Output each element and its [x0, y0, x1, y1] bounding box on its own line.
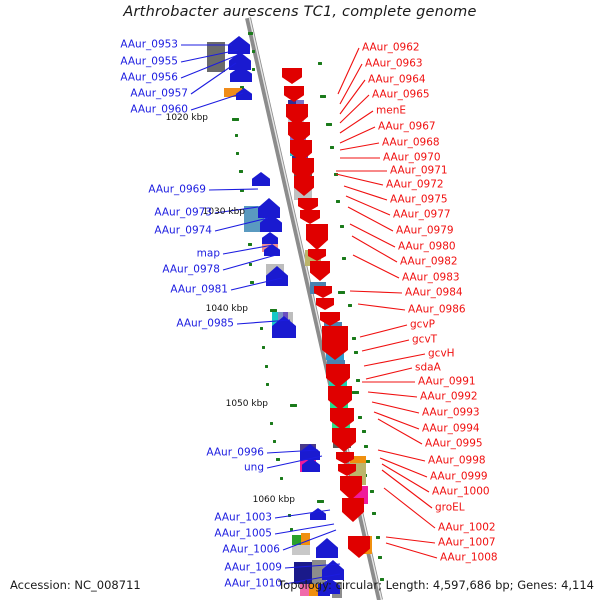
gene-label[interactable]: AAur_0993: [422, 408, 480, 419]
tick-mark: [372, 512, 376, 515]
tick-mark: [376, 536, 380, 539]
leader-line: [338, 48, 359, 94]
gene-label[interactable]: AAur_0982: [400, 257, 458, 268]
reverse-gene-arrow[interactable]: [310, 508, 326, 520]
gene-label[interactable]: AAur_1006: [222, 545, 280, 556]
reverse-gene-arrow[interactable]: [262, 232, 278, 244]
tick-mark: [239, 170, 243, 173]
tick-mark: [252, 68, 255, 71]
leader-line: [372, 402, 419, 413]
gene-label[interactable]: groEL: [435, 503, 465, 514]
forward-gene-arrow[interactable]: [310, 261, 330, 281]
gene-label[interactable]: AAur_0998: [428, 456, 486, 467]
gene-label[interactable]: AAur_0953: [120, 40, 178, 51]
gene-label[interactable]: AAur_1007: [438, 538, 496, 549]
leader-line: [348, 207, 393, 231]
forward-gene-arrow[interactable]: [314, 286, 332, 298]
tick-mark: [260, 327, 263, 330]
tick-mark: [236, 152, 239, 155]
forward-gene-arrows-group: [282, 68, 370, 558]
gene-label[interactable]: AAur_0995: [425, 439, 483, 450]
forward-gene-arrow[interactable]: [298, 198, 318, 212]
gene-label[interactable]: gcvP: [410, 320, 435, 331]
gene-label[interactable]: AAur_0980: [398, 242, 456, 253]
gene-label[interactable]: AAur_1003: [214, 513, 272, 524]
scale-tick-label: 1040 kbp: [206, 304, 248, 314]
gene-label[interactable]: AAur_0979: [396, 226, 454, 237]
tick-mark: [320, 95, 326, 98]
gene-label[interactable]: AAur_0955: [120, 57, 178, 68]
forward-gene-arrow[interactable]: [300, 210, 320, 224]
gene-label[interactable]: AAur_1008: [440, 553, 498, 564]
leader-line: [362, 340, 409, 351]
reverse-gene-arrow[interactable]: [258, 198, 280, 218]
tick-mark: [248, 243, 252, 246]
tick-mark: [378, 556, 382, 559]
gene-box[interactable]: [292, 545, 310, 555]
gene-label[interactable]: AAur_1002: [438, 523, 496, 534]
tick-mark: [352, 391, 359, 394]
leader-line: [350, 291, 402, 293]
forward-gene-arrow[interactable]: [284, 86, 304, 102]
leader-line: [350, 224, 395, 247]
gene-label[interactable]: AAur_0973: [154, 208, 212, 219]
genome-summary-text: Topology: circular; Length: 4,597,686 bp…: [278, 578, 594, 592]
tick-mark: [326, 123, 332, 126]
gene-label[interactable]: AAur_0965: [372, 90, 430, 101]
forward-gene-arrow[interactable]: [332, 428, 356, 452]
gene-label[interactable]: AAur_0956: [120, 73, 178, 84]
gene-label[interactable]: AAur_0962: [362, 43, 420, 54]
gene-label[interactable]: AAur_0969: [148, 185, 206, 196]
tick-mark: [290, 404, 297, 407]
tick-mark: [358, 416, 362, 419]
tick-mark: [366, 460, 370, 463]
leader-line: [336, 174, 383, 185]
scale-tick-label: 1050 kbp: [226, 399, 268, 409]
gene-label[interactable]: AAur_0964: [368, 75, 426, 86]
tick-mark: [270, 309, 277, 312]
tick-mark: [273, 440, 276, 443]
tick-mark: [370, 490, 374, 493]
gene-label[interactable]: AAur_0960: [130, 105, 188, 116]
gene-label[interactable]: AAur_0977: [393, 210, 451, 221]
gene-label[interactable]: AAur_0970: [383, 153, 441, 164]
gene-label[interactable]: AAur_1005: [214, 529, 272, 540]
gene-label[interactable]: AAur_0992: [420, 392, 478, 403]
gene-label[interactable]: AAur_1009: [224, 563, 282, 574]
scale-tick-label: 1060 kbp: [253, 495, 295, 505]
gene-label[interactable]: AAur_0957: [130, 89, 188, 100]
tick-mark: [317, 500, 324, 503]
tick-mark: [280, 477, 283, 480]
tick-mark: [364, 445, 368, 448]
tick-mark: [362, 430, 366, 433]
leader-line: [191, 93, 243, 110]
leader-line: [386, 543, 437, 558]
tick-mark: [354, 351, 358, 354]
tick-mark: [348, 304, 352, 307]
gene-label[interactable]: AAur_0999: [430, 472, 488, 483]
gene-label[interactable]: menE: [376, 106, 406, 117]
gene-label[interactable]: AAur_0994: [422, 424, 480, 435]
forward-gene-arrow[interactable]: [316, 298, 334, 310]
gene-label[interactable]: sdaA: [415, 363, 441, 374]
gene-label[interactable]: AAur_0975: [390, 195, 448, 206]
gene-label[interactable]: AAur_0986: [408, 305, 466, 316]
accession-text: Accession: NC_008711: [10, 578, 141, 592]
gene-label[interactable]: AAur_0985: [176, 319, 234, 330]
gene-label[interactable]: AAur_0974: [154, 226, 212, 237]
genome-map-canvas: [0, 0, 600, 600]
gene-label[interactable]: AAur_0981: [170, 285, 228, 296]
gene-label[interactable]: AAur_0963: [365, 59, 423, 70]
gene-label[interactable]: AAur_0968: [382, 138, 440, 149]
gene-box[interactable]: [207, 42, 225, 72]
genome-map-viewer: Arthrobacter aurescens TC1, complete gen…: [0, 0, 600, 600]
reverse-gene-arrow[interactable]: [316, 538, 338, 558]
tick-mark: [248, 32, 253, 35]
leader-line: [340, 64, 362, 104]
tick-mark: [265, 365, 268, 368]
tick-mark: [262, 346, 265, 349]
tick-mark: [270, 422, 273, 425]
forward-gene-arrow[interactable]: [282, 68, 302, 84]
gene-label[interactable]: gcvT: [412, 335, 437, 346]
leader-line: [384, 488, 435, 528]
gene-label[interactable]: AAur_1010: [224, 579, 282, 590]
leader-line: [358, 304, 405, 310]
gene-label[interactable]: map: [197, 249, 220, 260]
leader-line: [353, 255, 399, 278]
leader-line: [378, 450, 425, 461]
tick-mark: [252, 50, 255, 53]
gene-label[interactable]: gcvH: [428, 349, 455, 360]
tick-mark: [356, 379, 360, 382]
gene-label[interactable]: AAur_0967: [378, 122, 436, 133]
leader-line: [366, 368, 412, 379]
leader-line: [209, 189, 258, 190]
gene-label[interactable]: AAur_1000: [432, 487, 490, 498]
tick-mark: [266, 383, 269, 386]
gene-label[interactable]: AAur_0972: [386, 180, 444, 191]
tick-mark: [352, 337, 356, 340]
forward-gene-arrow[interactable]: [306, 224, 328, 250]
tick-mark: [330, 146, 334, 149]
leader-line: [360, 325, 407, 337]
gene-label[interactable]: AAur_0991: [418, 377, 476, 388]
leader-line: [368, 392, 417, 397]
tick-mark: [338, 291, 345, 294]
gene-label[interactable]: AAur_0978: [162, 265, 220, 276]
tick-mark: [235, 134, 238, 137]
tick-mark: [249, 263, 252, 266]
gene-label[interactable]: AAur_0983: [402, 273, 460, 284]
gene-label[interactable]: ung: [244, 463, 264, 474]
gene-label[interactable]: AAur_0971: [390, 166, 448, 177]
gene-label[interactable]: AAur_0996: [206, 448, 264, 459]
tick-mark: [342, 257, 346, 260]
tick-mark: [276, 458, 280, 461]
gene-label[interactable]: AAur_0984: [405, 288, 463, 299]
tick-mark: [318, 62, 322, 65]
leader-line: [378, 419, 422, 444]
tick-mark: [340, 225, 344, 228]
tick-mark: [250, 281, 254, 284]
page-title: Arthrobacter aurescens TC1, complete gen…: [0, 4, 600, 20]
leader-line: [275, 524, 334, 534]
reverse-gene-arrow[interactable]: [252, 172, 270, 186]
leader-line: [340, 143, 379, 150]
leader-line: [386, 537, 435, 543]
tick-mark: [232, 118, 239, 121]
tick-mark: [336, 200, 340, 203]
